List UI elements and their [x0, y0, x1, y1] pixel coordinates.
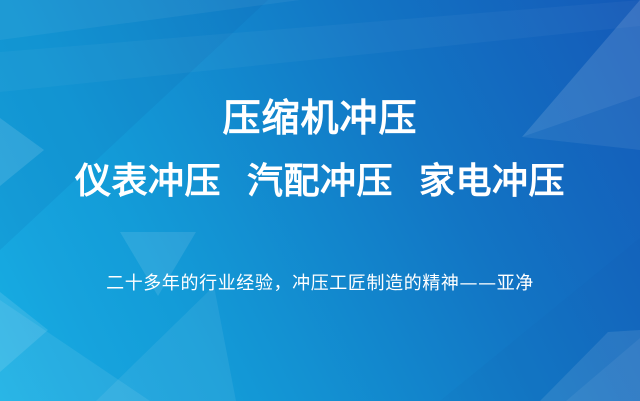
headline-sub: 仪表冲压汽配冲压家电冲压 — [75, 162, 565, 202]
headline-main: 压缩机冲压 — [222, 98, 417, 140]
tagline: 二十多年的行业经验，冲压工匠制造的精神——亚净 — [106, 273, 534, 295]
headline-sub-segment-2: 汽配冲压 — [247, 162, 393, 202]
banner-content: 压缩机冲压 仪表冲压汽配冲压家电冲压 二十多年的行业经验，冲压工匠制造的精神——… — [0, 0, 640, 401]
promo-banner: 压缩机冲压 仪表冲压汽配冲压家电冲压 二十多年的行业经验，冲压工匠制造的精神——… — [0, 0, 640, 401]
headline-sub-segment-3: 家电冲压 — [419, 162, 565, 202]
headline-sub-segment-1: 仪表冲压 — [75, 162, 221, 202]
